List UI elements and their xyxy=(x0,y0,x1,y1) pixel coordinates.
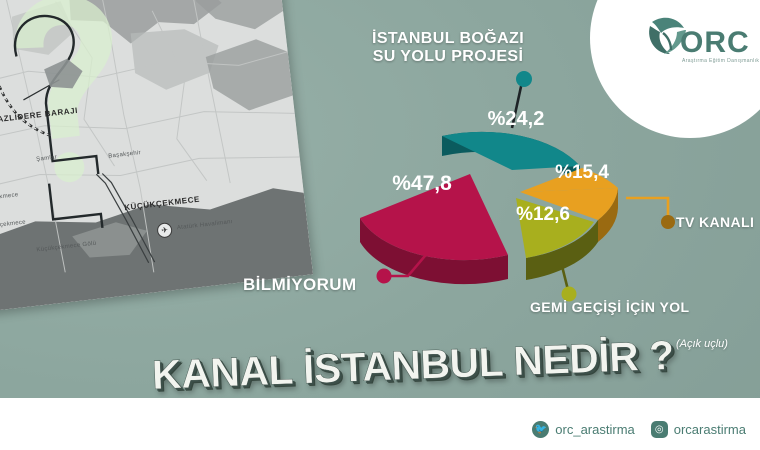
open-ended-note: (Açık uçlu) xyxy=(676,338,728,350)
callout-bogazi: İSTANBUL BOĞAZI SU YOLU PROJESİ xyxy=(372,30,524,66)
infographic-canvas: SAZLIDERE BARAJI KÜÇÜKÇEKMECE Başakşehir… xyxy=(0,0,760,450)
leader-tv xyxy=(626,198,675,229)
twitter-icon: 🐦 xyxy=(532,421,549,438)
logo-tagline: Araştırma Eğitim Danışmanlık xyxy=(682,58,759,64)
twitter-handle: orc_arastirma xyxy=(555,422,634,437)
slice-value-tv: %15,4 xyxy=(555,162,609,183)
map-graphic xyxy=(0,0,313,312)
callout-bilmiyorum: BİLMİYORUM xyxy=(243,275,357,294)
callout-bogazi-line2: SU YOLU PROJESİ xyxy=(372,48,524,66)
slice-value-bilmiyorum: %47,8 xyxy=(392,172,452,195)
callout-gemi: GEMİ GEÇİŞİ İÇİN YOL xyxy=(530,300,689,316)
logo-text: ORC xyxy=(680,26,750,60)
istanbul-canal-map: SAZLIDERE BARAJI KÜÇÜKÇEKMECE Başakşehir… xyxy=(0,0,313,312)
orc-logo: ORC Araştırma Eğitim Danışmanlık xyxy=(642,8,754,72)
slice-value-bogazi: %24,2 xyxy=(488,108,545,130)
instagram-icon: ◎ xyxy=(651,421,668,438)
instagram-handle: orcarastirma xyxy=(674,422,746,437)
callout-tv: TV KANALI xyxy=(676,215,754,231)
leader-gemi xyxy=(562,266,577,302)
instagram-link[interactable]: ◎ orcarastirma xyxy=(651,421,746,438)
slice-value-gemi: %12,6 xyxy=(516,204,570,225)
callout-bogazi-line1: İSTANBUL BOĞAZI xyxy=(372,30,524,48)
social-links: 🐦 orc_arastirma ◎ orcarastirma xyxy=(532,421,746,438)
twitter-link[interactable]: 🐦 orc_arastirma xyxy=(532,421,634,438)
